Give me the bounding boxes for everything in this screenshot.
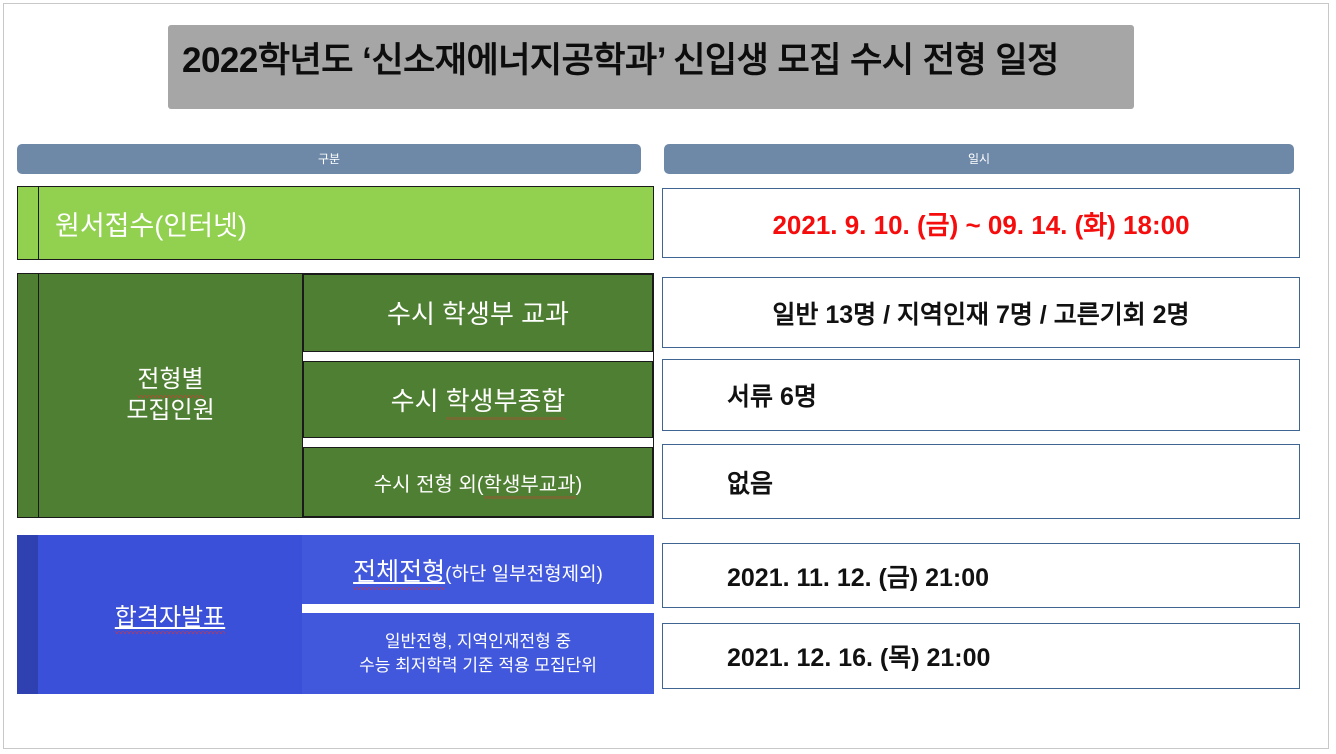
subcell-min-score-units: 일반전형, 지역인재전형 중 수능 최저학력 기준 적용 모집단위 <box>302 613 654 694</box>
subcell-gap <box>303 352 653 361</box>
row-quota-category: 전형별 모집인원 수시 학생부 교과 수시 학생부종합 수시 전형 외(학생부교… <box>17 273 654 518</box>
page-title: 2022학년도 ‘신소재에너지공학과’ 신입생 모집 수시 전형 일정 <box>182 37 1142 85</box>
subcell-label-prefix: 수시 전형 외( <box>374 474 484 496</box>
row-quota-value-box-0: 일반 13명 / 지역인재 7명 / 고른기회 2명 <box>662 277 1300 348</box>
subcell-label: 수시 학생부 교과 <box>387 294 569 331</box>
subcell-susi-other: 수시 전형 외(학생부교과) <box>303 447 653 517</box>
row-quota-label-line1: 전형별 <box>137 365 203 396</box>
subcell-label-term: 학생부종합 <box>446 381 566 418</box>
row-quota-value-2: 없음 <box>663 464 1299 500</box>
row-quota-value-0: 일반 13명 / 지역인재 7명 / 고른기회 2명 <box>663 295 1299 331</box>
row-quota-label-line2: 모집인원 <box>126 397 214 424</box>
row-result-value-box-1: 2021. 12. 16. (목) 21:00 <box>662 623 1300 689</box>
row-result-value-0: 2021. 11. 12. (금) 21:00 <box>663 558 1299 594</box>
row-result-value-box-0: 2021. 11. 12. (금) 21:00 <box>662 543 1300 608</box>
row-accent-strip <box>17 535 38 694</box>
row-quota-subcells: 수시 학생부 교과 수시 학생부종합 수시 전형 외(학생부교과) <box>303 274 653 517</box>
row-result-label: 합격자발표 <box>38 535 302 694</box>
row-apply-label: 원서접수(인터넷) <box>39 187 653 259</box>
subcell-label-term: 학생부교과 <box>484 468 576 497</box>
row-apply-value: 2021. 9. 10. (금) ~ 09. 14. (화) 18:00 <box>663 205 1299 242</box>
row-quota-value-box-1: 서류 6명 <box>662 359 1300 431</box>
row-result-label-text: 합격자발표 <box>115 597 225 632</box>
subcell-susi-gyogwa: 수시 학생부 교과 <box>303 274 653 352</box>
row-quota-value-1: 서류 6명 <box>663 377 1299 413</box>
subcell-label-line2: 수능 최저학력 기준 적용 모집단위 <box>359 656 597 675</box>
subcell-label-note: (하단 일부전형제외) <box>445 564 603 585</box>
row-quota-value-box-2: 없음 <box>662 444 1300 519</box>
subcell-gap <box>303 438 653 447</box>
row-result-subcells: 전체전형(하단 일부전형제외) 일반전형, 지역인재전형 중 수능 최저학력 기… <box>302 535 654 694</box>
row-apply-value-box: 2021. 9. 10. (금) ~ 09. 14. (화) 18:00 <box>662 188 1300 258</box>
row-result-category: 합격자발표 전체전형(하단 일부전형제외) 일반전형, 지역인재전형 중 수능 … <box>17 535 654 694</box>
row-quota-label: 전형별 모집인원 <box>39 274 303 517</box>
subcell-label-tail: ) <box>576 474 583 496</box>
subcell-label-prefix: 수시 <box>391 386 446 416</box>
column-header-datetime: 일시 <box>664 144 1294 174</box>
subcell-all-types: 전체전형(하단 일부전형제외) <box>302 535 654 604</box>
subcell-label-line1: 일반전형, 지역인재전형 중 <box>385 632 571 651</box>
row-apply-category: 원서접수(인터넷) <box>17 186 654 260</box>
subcell-label-main: 전체전형 <box>353 552 445 588</box>
row-result-value-1: 2021. 12. 16. (목) 21:00 <box>663 638 1299 674</box>
row-accent-strip <box>18 187 39 259</box>
subcell-susi-jonghap: 수시 학생부종합 <box>303 361 653 439</box>
column-header-category: 구분 <box>17 144 641 174</box>
slide-page: 2022학년도 ‘신소재에너지공학과’ 신입생 모집 수시 전형 일정 구분 일… <box>3 3 1329 749</box>
row-accent-strip <box>18 274 39 517</box>
subcell-gap <box>302 604 654 613</box>
